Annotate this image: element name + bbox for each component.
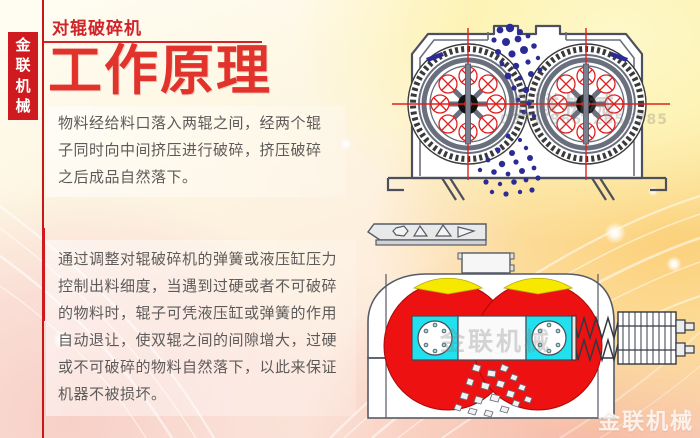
paragraph-principle: 物料经给料口落入两辊之间，经两个辊子同时向中间挤压进行破碎，挤压破碎之后成品自然… — [46, 106, 346, 197]
page-title: 工作原理 — [48, 42, 272, 100]
adjustment-bolts — [676, 320, 694, 356]
logo-char-1: 金 — [15, 38, 30, 53]
watermark-middle: 金联机械 — [440, 322, 552, 358]
watermark-phone: 0371-86612655785 — [500, 112, 668, 128]
logo-char-2: 联 — [15, 58, 30, 73]
left-accent-rule — [42, 0, 44, 438]
brand-logo: 金 联 机 械 — [8, 32, 38, 120]
logo-char-4: 械 — [15, 99, 30, 114]
feed-conveyor — [368, 224, 486, 245]
infographic-page: 金 联 机 械 对辊破碎机 工作原理 物料经给料口落入两辊之间，经两个辊子同时向… — [0, 0, 700, 438]
logo-char-3: 机 — [15, 79, 30, 94]
watermark-bottom: 金联机械 — [598, 404, 694, 436]
section-kicker: 对辊破碎机 — [52, 14, 142, 39]
paragraph-accent-rule — [42, 228, 45, 321]
paragraph-adjustment: 通过调整对辊破碎机的弹簧或液压缸压力控制出料细度，当遇到过硬或者不可破碎的物料时… — [46, 240, 356, 416]
adjustment-block — [618, 312, 676, 364]
